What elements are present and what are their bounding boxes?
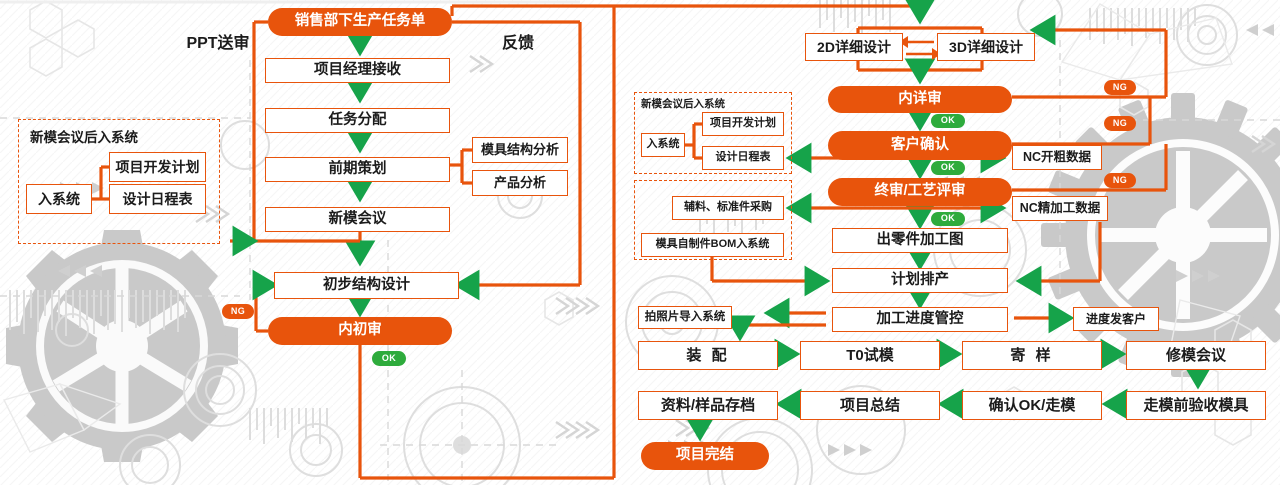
node-3d-detail-design[interactable]: 3D详细设计 bbox=[937, 33, 1035, 61]
node-sales-production-order[interactable]: 销售部下生产任务单 bbox=[268, 8, 452, 36]
badge-ok-customer-confirm: OK bbox=[931, 161, 965, 175]
node-part-machining-drawing[interactable]: 出零件加工图 bbox=[832, 228, 1008, 253]
badge-ng-internal-first-review: NG bbox=[222, 304, 254, 319]
exchange-icon bbox=[899, 36, 941, 60]
node-preliminary-planning[interactable]: 前期策划 bbox=[265, 157, 450, 182]
node-progress-to-customer[interactable]: 进度发客户 bbox=[1073, 307, 1159, 331]
node-nc-finishing-data[interactable]: NC精加工数据 bbox=[1012, 196, 1108, 221]
node-send-sample[interactable]: 寄 样 bbox=[962, 341, 1102, 370]
badge-ok-final-review: OK bbox=[931, 212, 965, 226]
node-aux-standard-parts-purchase[interactable]: 辅料、标准件采购 bbox=[672, 196, 784, 220]
node-task-assign[interactable]: 任务分配 bbox=[265, 108, 450, 133]
node-mold-repair-meeting[interactable]: 修模会议 bbox=[1126, 341, 1266, 370]
group-left-title: 新模会议后入系统 bbox=[30, 126, 138, 146]
group-right-title: 新模会议后入系统 bbox=[641, 96, 725, 111]
badge-ok-internal-first-review: OK bbox=[372, 351, 406, 366]
node-final-process-review[interactable]: 终审/工艺评审 bbox=[828, 178, 1012, 206]
node-archive-sample-docs[interactable]: 资料/样品存档 bbox=[638, 391, 778, 420]
node-project-summary[interactable]: 项目总结 bbox=[800, 391, 940, 420]
node-left-design-schedule[interactable]: 设计日程表 bbox=[109, 184, 206, 214]
node-confirm-ok-run-mold[interactable]: 确认OK/走模 bbox=[962, 391, 1102, 420]
node-production-scheduling[interactable]: 计划排产 bbox=[832, 268, 1008, 293]
node-left-project-dev-plan[interactable]: 项目开发计划 bbox=[109, 152, 206, 182]
node-right-design-schedule[interactable]: 设计日程表 bbox=[702, 146, 784, 170]
badge-ng-final-review: NG bbox=[1104, 173, 1136, 188]
node-customer-confirm[interactable]: 客户确认 bbox=[828, 131, 1012, 160]
node-new-mold-meeting[interactable]: 新模会议 bbox=[265, 207, 450, 232]
node-2d-detail-design[interactable]: 2D详细设计 bbox=[805, 33, 903, 61]
node-t0-trial-mold[interactable]: T0试模 bbox=[800, 341, 940, 370]
node-internal-detail-review[interactable]: 内详审 bbox=[828, 86, 1012, 113]
node-right-project-dev-plan[interactable]: 项目开发计划 bbox=[702, 112, 784, 136]
node-left-entry-system[interactable]: 入系统 bbox=[26, 184, 92, 214]
label-ppt-review: PPT送审 bbox=[168, 33, 268, 55]
node-mold-selfmade-bom[interactable]: 模具自制件BOM入系统 bbox=[641, 233, 784, 257]
node-photo-import-system[interactable]: 拍照片导入系统 bbox=[638, 306, 732, 329]
node-nc-roughing-data[interactable]: NC开粗数据 bbox=[1012, 145, 1102, 170]
badge-ng-customer-confirm: NG bbox=[1104, 116, 1136, 131]
node-pre-run-mold-acceptance[interactable]: 走模前验收模具 bbox=[1126, 391, 1266, 420]
node-preliminary-structure-design[interactable]: 初步结构设计 bbox=[274, 272, 459, 299]
node-right-entry-system[interactable]: 入系统 bbox=[641, 133, 685, 157]
node-machining-progress-control[interactable]: 加工进度管控 bbox=[832, 307, 1008, 332]
node-mold-structure-analysis[interactable]: 模具结构分析 bbox=[472, 137, 568, 163]
node-pm-receive[interactable]: 项目经理接收 bbox=[265, 58, 450, 83]
node-project-complete[interactable]: 项目完结 bbox=[641, 442, 769, 470]
badge-ok-internal-detail-review: OK bbox=[931, 114, 965, 128]
node-product-analysis[interactable]: 产品分析 bbox=[472, 170, 568, 196]
node-internal-first-review[interactable]: 内初审 bbox=[268, 317, 452, 345]
node-assembly[interactable]: 装 配 bbox=[638, 341, 778, 370]
badge-ng-internal-detail-review: NG bbox=[1104, 80, 1136, 95]
label-feedback: 反馈 bbox=[486, 33, 550, 55]
